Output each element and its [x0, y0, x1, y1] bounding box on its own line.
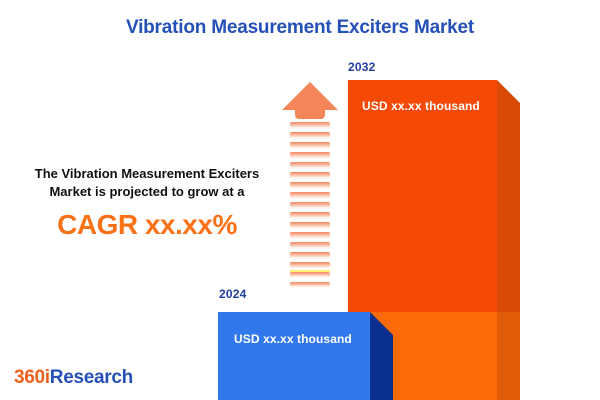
cagr-lead-line-2: Market is projected to grow at a [8, 183, 286, 201]
brand-logo-primary: 360i [14, 367, 50, 388]
bar-2024-value-label: USD xx.xx thousand [234, 332, 352, 346]
bar-2032-side-overlap [497, 312, 520, 400]
year-label-2024: 2024 [219, 287, 247, 301]
bar-2024: USD xx.xx thousand [218, 312, 393, 400]
cagr-lead-line-1: The Vibration Measurement Exciters [8, 165, 286, 183]
page-title: Vibration Measurement Exciters Market [0, 17, 600, 39]
cagr-statement: The Vibration Measurement Exciters Marke… [8, 165, 286, 241]
year-label-2032: 2032 [348, 60, 376, 74]
bar-2024-side-face [370, 312, 393, 400]
brand-logo: 360iResearch [14, 367, 133, 389]
bar-2024-front-face [218, 312, 370, 400]
cagr-lead-text: The Vibration Measurement Exciters Marke… [8, 165, 286, 201]
infographic-canvas: Vibration Measurement Exciters Market [0, 0, 600, 400]
growth-arrow-icon [281, 82, 339, 297]
bar-2032-value-label: USD xx.xx thousand [362, 99, 480, 113]
brand-logo-secondary: Research [50, 367, 133, 388]
cagr-value: CAGR xx.xx% [8, 209, 286, 241]
